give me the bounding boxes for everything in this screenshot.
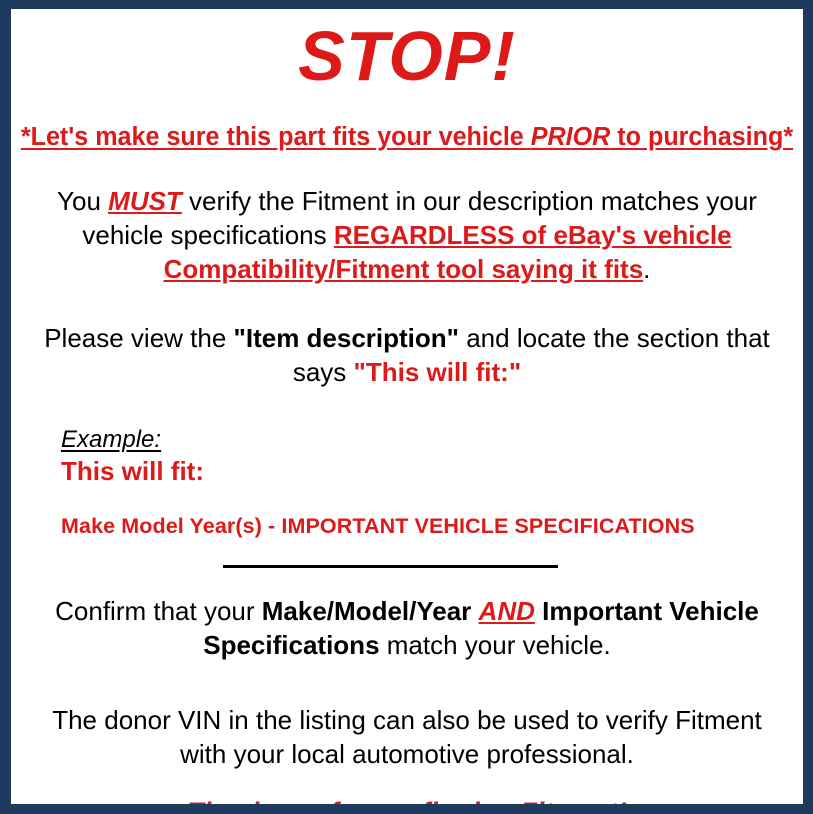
view-seg-1: Please view the xyxy=(44,323,233,353)
make-model-year-emphasis: Make/Model/Year xyxy=(262,596,472,626)
thanks-line: Thank you for confirming Fitment! xyxy=(11,796,803,804)
divider-rule xyxy=(223,565,558,568)
subtitle-warning-line: *Let's make sure this part fits your veh… xyxy=(17,122,797,152)
must-verify-paragraph: You MUST verify the Fitment in our descr… xyxy=(11,185,803,286)
notice-outer-border: STOP! *Let's make sure this part fits yo… xyxy=(0,0,813,814)
and-emphasis: AND xyxy=(479,596,535,626)
donor-vin-paragraph: The donor VIN in the listing can also be… xyxy=(11,704,803,772)
item-description-emphasis: "Item description" xyxy=(234,323,459,353)
example-fit-heading: This will fit: xyxy=(61,457,803,487)
subtitle-prior-emphasis: PRIOR xyxy=(531,123,611,151)
must-seg-3: . xyxy=(643,254,650,284)
subtitle-text-after: to purchasing* xyxy=(610,123,793,151)
example-label: Example: xyxy=(61,426,161,454)
stop-headline: STOP! xyxy=(11,21,803,91)
must-emphasis: MUST xyxy=(108,186,182,216)
confirm-paragraph: Confirm that your Make/Model/Year AND Im… xyxy=(11,595,803,663)
must-seg-1: You xyxy=(57,186,108,216)
notice-card: STOP! *Let's make sure this part fits yo… xyxy=(11,9,803,804)
this-will-fit-emphasis: "This will fit:" xyxy=(354,357,522,387)
example-spec-line: Make Model Year(s) - IMPORTANT VEHICLE S… xyxy=(61,514,803,539)
example-block: Example: This will fit: Make Model Year(… xyxy=(11,426,803,538)
subtitle-text-before: *Let's make sure this part fits your veh… xyxy=(21,123,531,151)
view-description-paragraph: Please view the "Item description" and l… xyxy=(11,322,803,390)
example-label-row: Example: xyxy=(61,426,803,454)
divider xyxy=(11,565,803,569)
confirm-seg-2 xyxy=(471,596,478,626)
confirm-seg-1: Confirm that your xyxy=(55,596,262,626)
confirm-seg-4: match your vehicle. xyxy=(380,630,611,660)
